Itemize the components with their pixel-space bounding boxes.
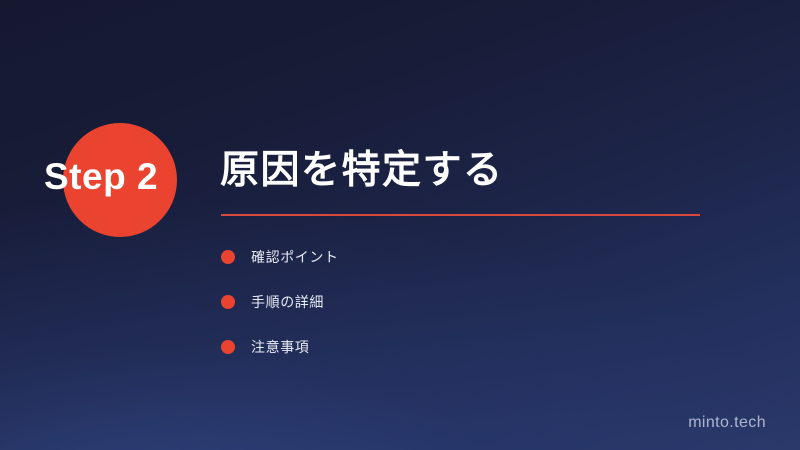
slide-canvas: Step 2 原因を特定する 確認ポイント 手順の詳細 注意事項 minto.t…	[0, 0, 800, 450]
dot-icon	[221, 340, 235, 354]
bullet-list: 確認ポイント 手順の詳細 注意事項	[221, 234, 701, 369]
list-item-label: 手順の詳細	[251, 292, 324, 312]
watermark-label: minto.tech	[688, 414, 766, 432]
page-title: 原因を特定する	[220, 146, 504, 196]
step-number-label: Step 2	[44, 153, 214, 201]
list-item: 確認ポイント	[221, 234, 701, 279]
dot-icon	[221, 250, 235, 264]
list-item-label: 確認ポイント	[251, 247, 339, 267]
list-item: 注意事項	[221, 324, 701, 369]
list-item: 手順の詳細	[221, 279, 701, 324]
list-item-label: 注意事項	[251, 337, 309, 357]
title-divider	[221, 214, 700, 216]
dot-icon	[221, 295, 235, 309]
